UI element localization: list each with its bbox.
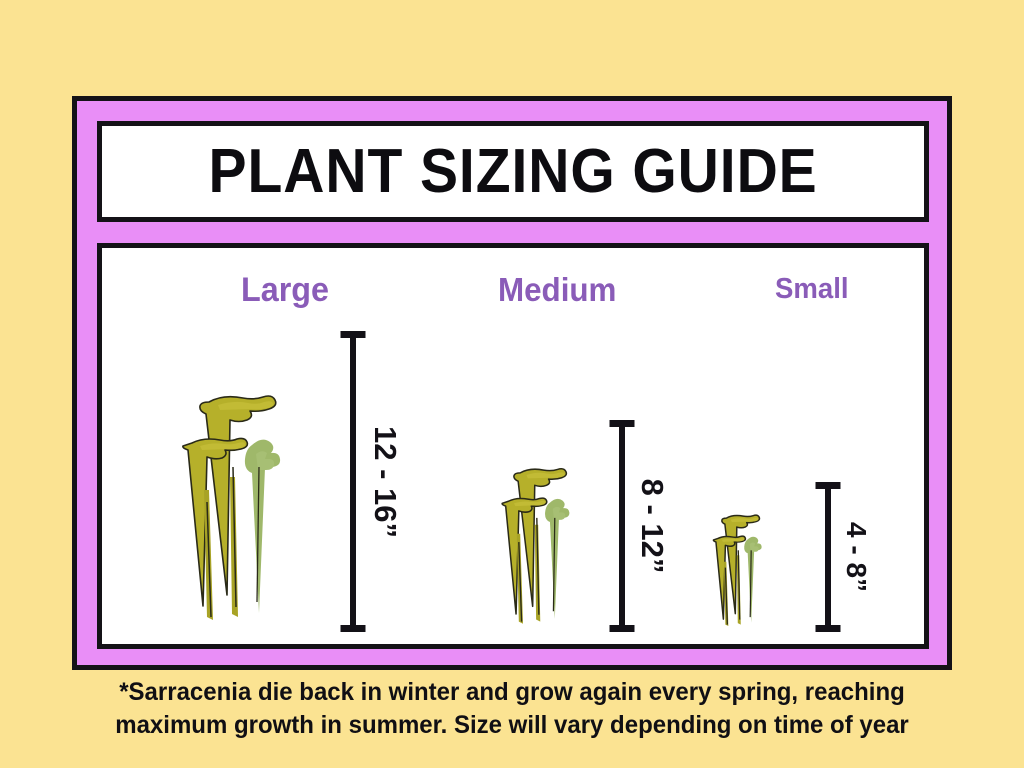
measure-cap-bottom (610, 625, 635, 632)
poster-frame: PLANT SIZING GUIDE Large Medium Small (72, 96, 952, 670)
measure-line (825, 482, 831, 632)
measurement-label-large: 12 - 16” (367, 425, 403, 537)
pitcher-plant-icon-small (709, 481, 775, 632)
plant-sizing-poster: PLANT SIZING GUIDE Large Medium Small (0, 0, 1024, 768)
measure-cap-bottom (816, 625, 841, 632)
column-header-large: Large (241, 271, 329, 310)
measure-line (350, 331, 356, 632)
footnote-line-2: maximum growth in summer. Size will vary… (20, 709, 1003, 742)
title-box: PLANT SIZING GUIDE (97, 121, 929, 222)
pitcher-plant-icon-large (174, 327, 307, 632)
measure-cap-top (816, 482, 841, 489)
footnote: *Sarracenia die back in winter and grow … (0, 676, 1024, 742)
measurement-label-medium: 8 - 12” (634, 479, 670, 574)
footnote-line-1: *Sarracenia die back in winter and grow … (20, 676, 1003, 709)
column-header-small: Small (775, 273, 849, 306)
measurement-bar-small: 4 - 8” (815, 482, 841, 632)
size-comparison-panel: Large Medium Small (97, 243, 929, 649)
measurement-bar-medium: 8 - 12” (609, 420, 635, 632)
page-title: PLANT SIZING GUIDE (208, 141, 817, 203)
measure-line (619, 420, 625, 632)
measurement-bar-large: 12 - 16” (340, 331, 366, 632)
column-header-medium: Medium (498, 271, 616, 309)
measure-cap-bottom (341, 625, 366, 632)
measure-cap-top (341, 331, 366, 338)
measurement-label-small: 4 - 8” (840, 522, 872, 592)
pitcher-plant-icon-medium (496, 421, 588, 632)
measure-cap-top (610, 420, 635, 427)
